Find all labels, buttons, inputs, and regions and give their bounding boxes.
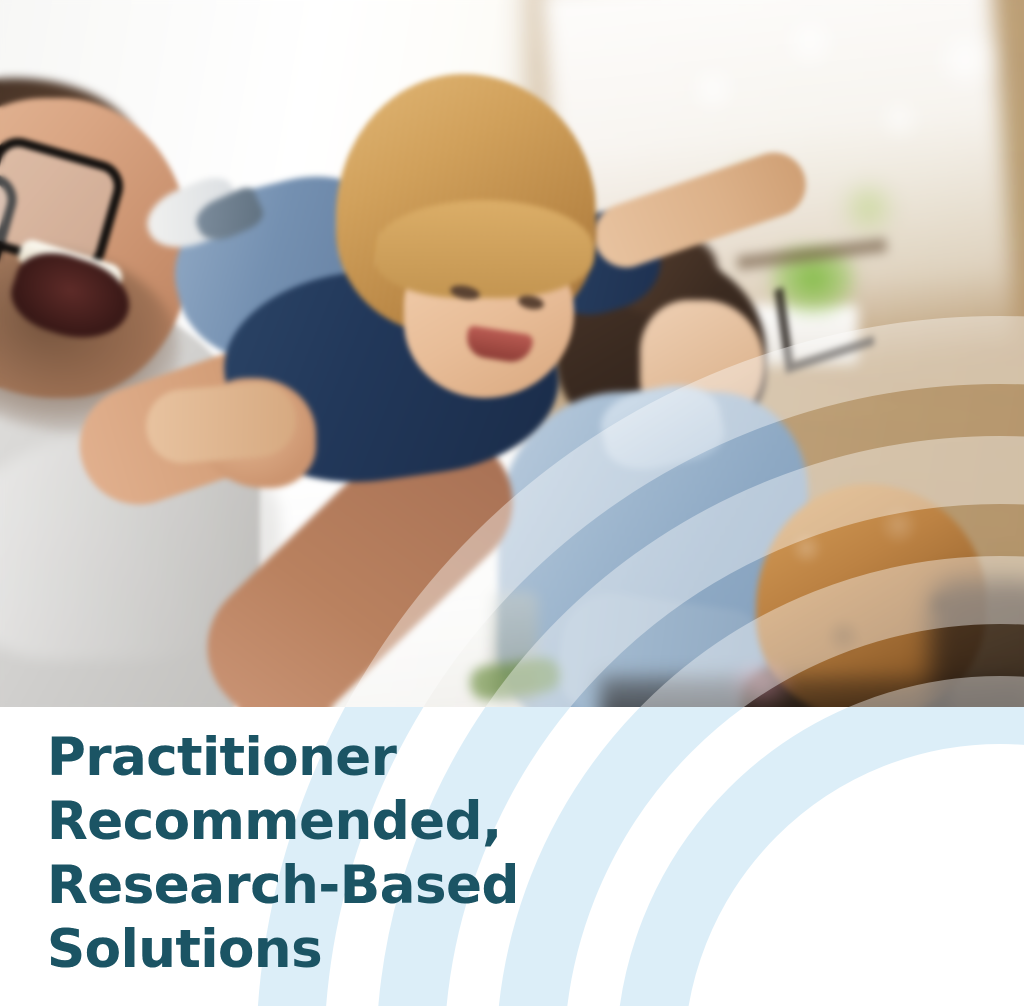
child-hair-fringe: [374, 200, 594, 298]
promotional-banner: Practitioner Recommended, Research-Based…: [0, 0, 1024, 1006]
foreground-shadow-band: [600, 676, 1024, 707]
headline-overlay: Practitioner Recommended, Research-Based…: [0, 707, 1024, 1006]
page-title-top: Practitioner Recommended, Research-Based…: [47, 726, 519, 982]
hero-photo: [0, 0, 1024, 707]
